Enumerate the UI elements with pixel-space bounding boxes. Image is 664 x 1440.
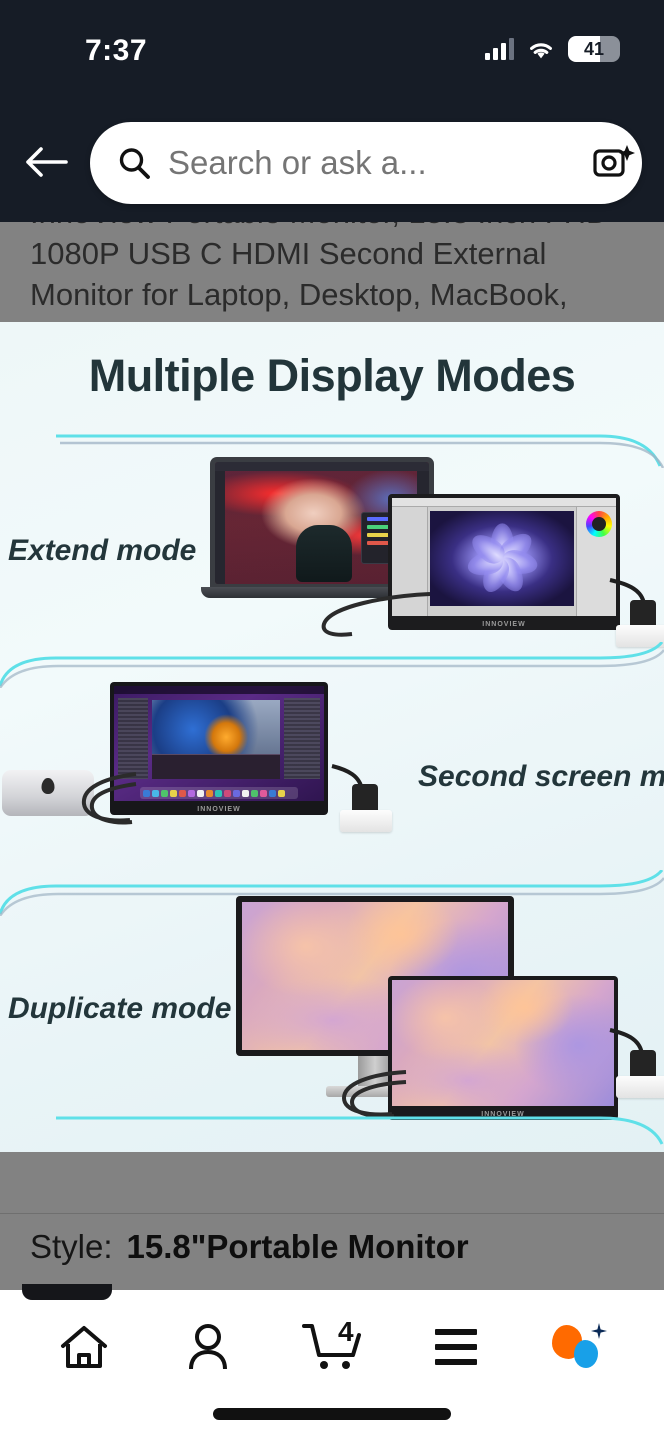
- cable-second-screen: [70, 770, 140, 830]
- style-value: 15.8"Portable Monitor: [127, 1228, 469, 1266]
- account-person-icon: [182, 1321, 234, 1373]
- nav-items: 4: [0, 1304, 664, 1390]
- dimmed-band-upper: [0, 1152, 664, 1214]
- portable-monitor-duplicate: INNOVIEW: [388, 976, 618, 1120]
- cart-badge-count: 4: [338, 1316, 354, 1348]
- bottom-navigation-bar: 4: [0, 1290, 664, 1440]
- battery-icon: 41: [568, 36, 620, 62]
- nav-account-button[interactable]: [162, 1310, 254, 1384]
- decorative-line-2: [0, 642, 664, 688]
- cellular-signal-icon: [485, 38, 514, 60]
- camera-lens-scan-icon[interactable]: [593, 143, 635, 183]
- mode-label-extend: Extend mode: [8, 534, 196, 568]
- back-arrow-icon: [24, 145, 70, 179]
- hamburger-menu-icon: [435, 1329, 477, 1365]
- home-indicator: [213, 1408, 451, 1420]
- search-bar[interactable]: [90, 122, 642, 204]
- decorative-line-4: [0, 1104, 664, 1150]
- gallery-heading: Multiple Display Modes: [0, 350, 664, 402]
- app-header: 7:37 41: [0, 0, 664, 222]
- portable-monitor-second-screen: INNOVIEW: [110, 682, 328, 815]
- product-title: InnoView Portable Monitor, 15.8 Inch FHD…: [30, 222, 634, 322]
- scene-duplicate-mode: INNOVIEW: [0, 878, 664, 1138]
- status-bar: 7:37 41: [0, 0, 664, 92]
- status-icons: 41: [485, 36, 620, 62]
- cable-extend: [318, 590, 438, 640]
- wall-outlet-second-screen: [340, 810, 392, 832]
- home-icon: [57, 1322, 111, 1372]
- search-header-row: [0, 112, 664, 212]
- nav-rufus-button[interactable]: [534, 1310, 626, 1384]
- phone-screen: InnoView Portable Monitor, 15.8 Inch FHD…: [0, 0, 664, 1440]
- monitor-brand-label: INNOVIEW: [110, 806, 328, 813]
- rufus-ai-assistant-icon: [552, 1323, 608, 1371]
- mode-label-second-screen: Second screen mo: [418, 760, 664, 794]
- search-icon: [116, 145, 152, 181]
- style-label: Style:: [30, 1228, 113, 1266]
- nav-home-button[interactable]: [38, 1310, 130, 1384]
- battery-level: 41: [568, 36, 620, 62]
- scroll-to-top-tab[interactable]: [22, 1284, 112, 1300]
- search-input[interactable]: [168, 144, 593, 182]
- back-button[interactable]: [18, 136, 76, 188]
- nav-menu-button[interactable]: [410, 1310, 502, 1384]
- wifi-icon: [527, 39, 555, 60]
- style-selector-row[interactable]: Style: 15.8"Portable Monitor: [30, 1228, 469, 1266]
- product-gallery-image[interactable]: Multiple Display Modes Extend mode: [0, 322, 664, 1152]
- wall-outlet-duplicate: [616, 1076, 664, 1098]
- status-time: 7:37: [85, 34, 147, 68]
- product-title-band: InnoView Portable Monitor, 15.8 Inch FHD…: [0, 222, 664, 322]
- nav-cart-button[interactable]: 4: [286, 1310, 378, 1384]
